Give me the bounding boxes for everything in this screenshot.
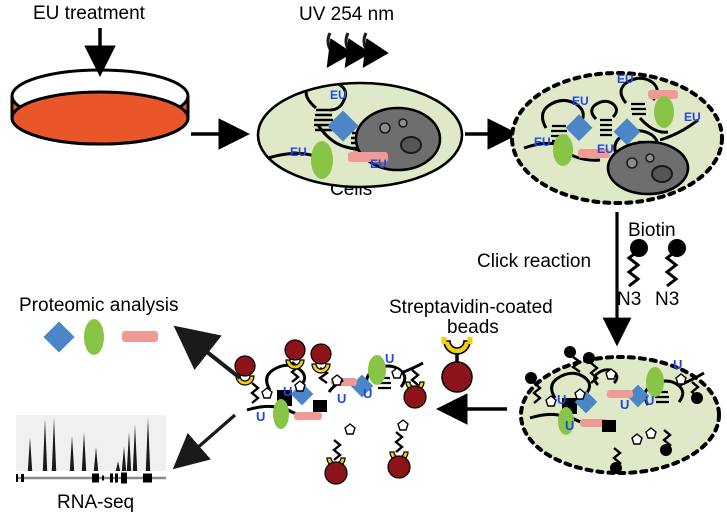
eu-mark: EU	[684, 110, 701, 124]
arrow-to-proteomic	[183, 333, 240, 378]
rnaseq-track	[16, 415, 166, 484]
u-mark: U	[565, 418, 574, 433]
u-mark: U	[673, 357, 682, 372]
gene-exon	[143, 474, 152, 483]
arrow-to-rnaseq	[180, 415, 235, 463]
lysate-crosslinked: EU EU EU EU EU EU EU	[512, 72, 722, 203]
bead-group	[325, 458, 347, 484]
uv-rays-icon	[328, 33, 368, 63]
eu-mark: EU	[617, 72, 634, 86]
eu-mark: EU	[290, 145, 307, 159]
lysate-biotinylated: U U U U U	[521, 346, 719, 474]
u-mark: U	[645, 393, 654, 408]
u-mark: U	[256, 409, 265, 424]
streptavidin-bead-icon	[442, 337, 472, 392]
gene-exon	[21, 474, 24, 482]
bead-group	[404, 382, 426, 408]
bead-group	[388, 452, 410, 478]
protein-oval	[311, 141, 333, 179]
u-mark: U	[620, 397, 629, 412]
gene-exon	[102, 476, 104, 481]
u-mark: U	[385, 351, 394, 366]
bead-group	[311, 344, 331, 373]
bead-group	[285, 340, 305, 369]
eu-mark: EU	[370, 157, 387, 171]
eu-mark: EU	[534, 135, 551, 149]
eu-mark: EU	[572, 94, 589, 108]
cell-intact: EU EU EU	[258, 80, 462, 187]
gene-exon	[92, 474, 99, 483]
gene-exon	[121, 473, 127, 484]
bead-captured-complexes: U U U U U	[235, 340, 426, 484]
u-mark: U	[557, 392, 566, 407]
eu-mark: EU	[330, 88, 347, 102]
gene-exon	[110, 474, 113, 483]
petri-dish	[12, 70, 188, 144]
diagram-svg: EU EU EU	[0, 0, 727, 522]
u-mark: U	[283, 384, 292, 399]
legend-bar-protein	[122, 331, 158, 342]
legend-diamond-protein	[43, 321, 74, 352]
u-mark: U	[363, 386, 372, 401]
biotin-dot	[668, 239, 686, 257]
biotin-dot	[630, 239, 648, 257]
gene-exon	[16, 474, 18, 482]
figure-canvas: EU treatment UV 254 nm Cells Click react…	[0, 0, 727, 522]
legend-oval-protein	[84, 319, 104, 355]
u-mark: U	[337, 391, 346, 406]
gene-exon	[115, 474, 118, 483]
bead-group	[235, 356, 255, 385]
